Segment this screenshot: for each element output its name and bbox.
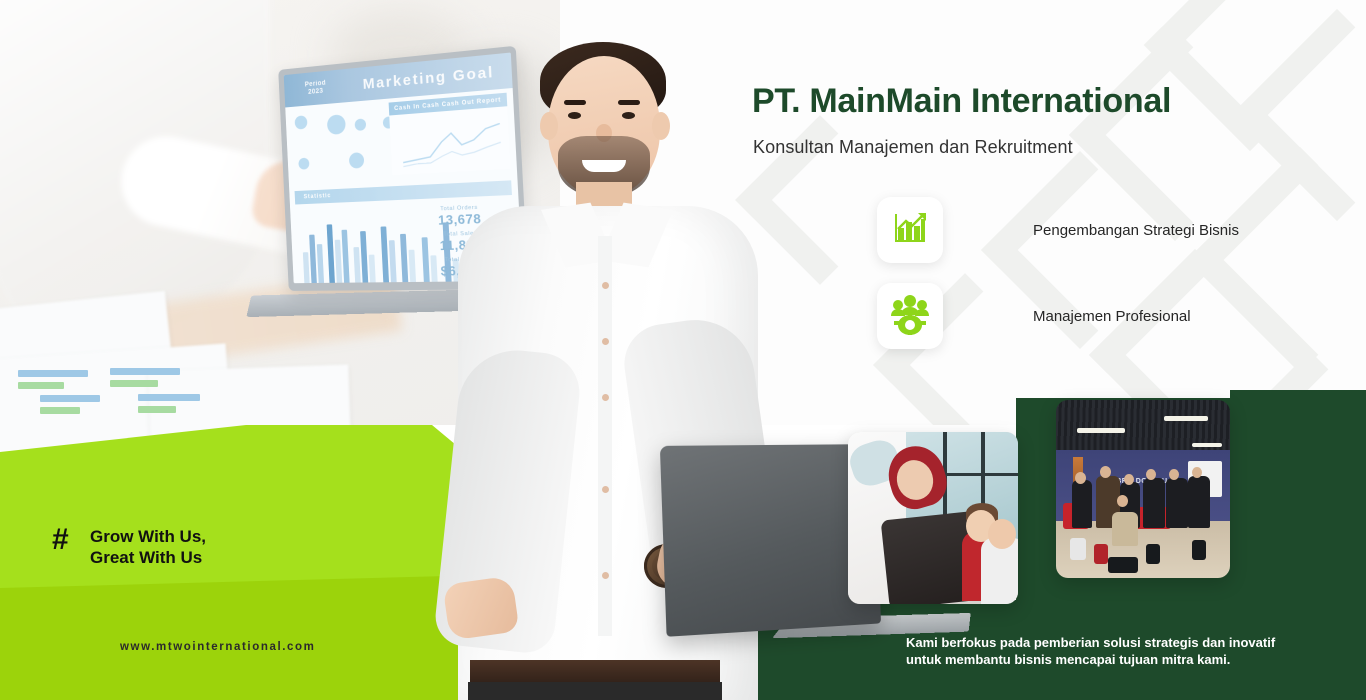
person-trousers	[468, 682, 722, 700]
map-marker	[294, 115, 307, 129]
traveler	[1072, 480, 1092, 528]
person-ear	[652, 112, 670, 140]
tagline-line-2: Great With Us	[90, 547, 206, 568]
suitcase	[1094, 544, 1108, 564]
map-marker	[298, 158, 309, 170]
chevron-watermark-icon	[1231, 9, 1366, 221]
feature-item-management[interactable]: Manajemen Profesional	[877, 283, 1191, 349]
team-selfie-photo	[848, 432, 1018, 604]
chart-bar	[303, 252, 310, 283]
team-gear-icon	[889, 293, 931, 340]
page-title: PT. MainMain International	[752, 82, 1171, 121]
paper-chart-bar	[110, 368, 180, 375]
traveler-crouching	[1112, 512, 1138, 546]
map-marker	[327, 114, 346, 135]
chart-bar	[389, 240, 397, 283]
traveler-head	[1075, 472, 1086, 484]
chart-bar	[327, 224, 335, 283]
traveler	[1166, 478, 1188, 528]
person-eye	[568, 112, 581, 119]
person-brow	[564, 100, 586, 105]
person-eye	[622, 112, 635, 119]
dashboard-map-widget	[291, 104, 405, 182]
chart-bar	[309, 235, 317, 284]
tagline-line-1: Grow With Us,	[90, 526, 206, 547]
feature-icon-box	[877, 197, 943, 263]
chart-bar	[381, 226, 390, 283]
person-brow	[618, 100, 640, 105]
tagline-text: Grow With Us, Great With Us	[90, 526, 206, 569]
person-smile	[582, 160, 626, 172]
poster-canvas: Period 2023 Marketing Goal	[0, 0, 1366, 700]
paper-chart-bar	[138, 406, 176, 413]
chart-bar	[341, 230, 349, 284]
chart-bar	[400, 234, 408, 283]
chevron-watermark-icon	[1144, 0, 1356, 151]
ceiling-light	[1164, 416, 1208, 421]
shirt-button	[602, 486, 609, 493]
airport-group-photo: DOBRO DOSLI U	[1056, 400, 1230, 578]
feature-label: Pengembangan Strategi Bisnis	[1033, 222, 1239, 239]
company-blurb: Kami berfokus pada pemberian solusi stra…	[906, 634, 1275, 668]
blurb-line-2: untuk membantu bisnis mencapai tujuan mi…	[906, 651, 1275, 668]
businessman-photo	[430, 20, 790, 700]
traveler	[1188, 476, 1210, 528]
person-hand-left	[442, 575, 519, 640]
paper-chart-bar	[110, 380, 158, 387]
suitcase	[1070, 538, 1086, 560]
paper-chart-bar	[18, 382, 64, 389]
chart-bar	[317, 244, 324, 283]
chart-bar	[369, 255, 376, 284]
shirt-button	[602, 572, 609, 579]
suitcase	[1192, 540, 1206, 560]
feature-icon-box	[877, 283, 943, 349]
paper-chart-bar	[40, 407, 80, 414]
traveler-head	[1100, 466, 1111, 478]
shirt-button	[602, 282, 609, 289]
page-subtitle: Konsultan Manajemen dan Rekruitment	[753, 137, 1073, 158]
traveler-head	[1117, 495, 1128, 507]
dashboard-period: Period 2023	[284, 78, 348, 99]
chart-bar	[360, 231, 368, 283]
paper-chart-bar	[40, 395, 100, 402]
traveler-head	[1192, 467, 1202, 478]
ceiling-light	[1077, 428, 1125, 433]
ceiling-light	[1192, 443, 1222, 447]
feature-label: Manajemen Profesional	[1033, 308, 1191, 325]
chart-bar	[353, 247, 360, 283]
person-ear	[540, 112, 558, 140]
paper-chart-bar	[138, 394, 200, 401]
blurb-line-1: Kami berfokus pada pemberian solusi stra…	[906, 634, 1275, 651]
shirt-button	[602, 338, 609, 345]
traveler	[1143, 478, 1165, 528]
shirt-button	[602, 394, 609, 401]
duffel-bag	[1108, 557, 1138, 573]
bar-chart-growth-icon	[890, 208, 930, 253]
feature-item-strategy[interactable]: Pengembangan Strategi Bisnis	[877, 197, 1239, 263]
website-url[interactable]: www.mtwointernational.com	[120, 641, 315, 653]
suitcase	[1146, 544, 1160, 564]
hashtag-icon: #	[52, 525, 69, 555]
chart-bar	[335, 240, 343, 284]
paper-chart-bar	[18, 370, 88, 377]
map-marker	[355, 118, 367, 131]
map-marker	[349, 152, 365, 169]
